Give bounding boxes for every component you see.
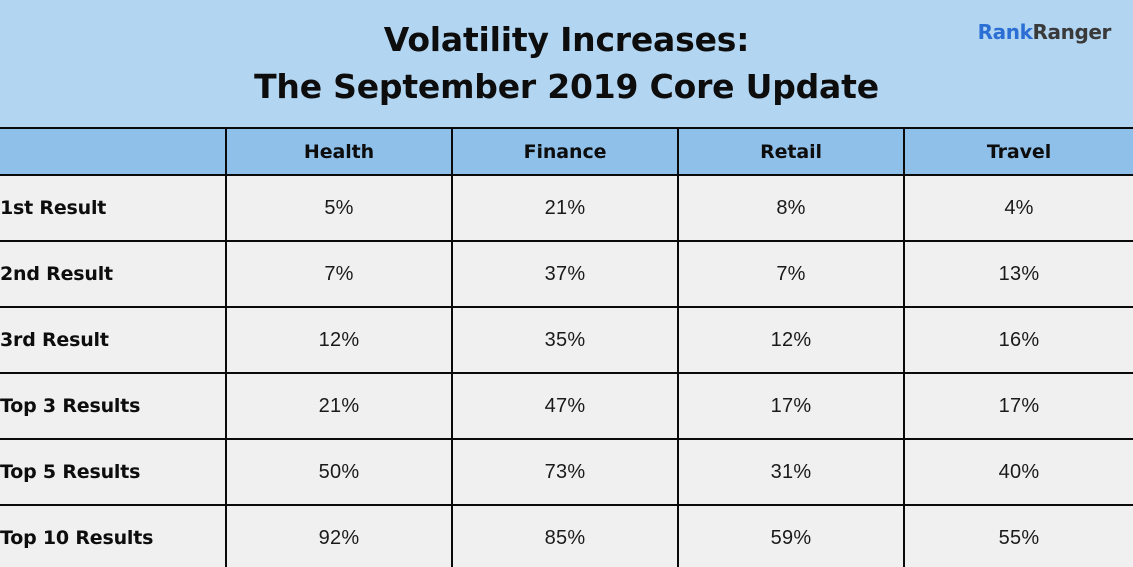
cell-top-5-results-health: 50%	[226, 439, 452, 505]
cell-1st-result-travel: 4%	[904, 175, 1133, 241]
cell-3rd-result-retail: 12%	[678, 307, 904, 373]
column-header-retail: Retail	[678, 128, 904, 175]
page-title-line-1: Volatility Increases:	[0, 16, 1133, 63]
cell-1st-result-retail: 8%	[678, 175, 904, 241]
volatility-table: Health Finance Retail Travel 1st Result …	[0, 127, 1133, 567]
row-label-top-3-results: Top 3 Results	[0, 373, 226, 439]
cell-2nd-result-health: 7%	[226, 241, 452, 307]
cell-top-10-results-health: 92%	[226, 505, 452, 567]
cell-3rd-result-travel: 16%	[904, 307, 1133, 373]
rankranger-logo: RankRanger	[978, 22, 1111, 42]
table-header-row: Health Finance Retail Travel	[0, 128, 1133, 175]
table-corner-cell	[0, 128, 226, 175]
table-row: Top 10 Results 92% 85% 59% 55%	[0, 505, 1133, 567]
row-label-3rd-result: 3rd Result	[0, 307, 226, 373]
cell-top-10-results-retail: 59%	[678, 505, 904, 567]
cell-3rd-result-finance: 35%	[452, 307, 678, 373]
cell-top-5-results-finance: 73%	[452, 439, 678, 505]
cell-top-10-results-travel: 55%	[904, 505, 1133, 567]
cell-top-3-results-retail: 17%	[678, 373, 904, 439]
page-title: Volatility Increases: The September 2019…	[0, 16, 1133, 110]
row-label-2nd-result: 2nd Result	[0, 241, 226, 307]
cell-2nd-result-retail: 7%	[678, 241, 904, 307]
table-row: 1st Result 5% 21% 8% 4%	[0, 175, 1133, 241]
column-header-travel: Travel	[904, 128, 1133, 175]
page-title-line-2: The September 2019 Core Update	[0, 63, 1133, 110]
cell-top-10-results-finance: 85%	[452, 505, 678, 567]
table-body: 1st Result 5% 21% 8% 4% 2nd Result 7% 37…	[0, 175, 1133, 567]
cell-3rd-result-health: 12%	[226, 307, 452, 373]
cell-1st-result-health: 5%	[226, 175, 452, 241]
column-header-health: Health	[226, 128, 452, 175]
cell-top-3-results-health: 21%	[226, 373, 452, 439]
row-label-top-10-results: Top 10 Results	[0, 505, 226, 567]
table-row: 2nd Result 7% 37% 7% 13%	[0, 241, 1133, 307]
column-header-finance: Finance	[452, 128, 678, 175]
volatility-table-container: Health Finance Retail Travel 1st Result …	[0, 127, 1133, 567]
cell-1st-result-finance: 21%	[452, 175, 678, 241]
cell-top-3-results-finance: 47%	[452, 373, 678, 439]
table-row: Top 3 Results 21% 47% 17% 17%	[0, 373, 1133, 439]
table-row: 3rd Result 12% 35% 12% 16%	[0, 307, 1133, 373]
cell-2nd-result-finance: 37%	[452, 241, 678, 307]
cell-top-5-results-retail: 31%	[678, 439, 904, 505]
cell-top-3-results-travel: 17%	[904, 373, 1133, 439]
row-label-1st-result: 1st Result	[0, 175, 226, 241]
logo-text-ranger: Ranger	[1033, 20, 1111, 44]
logo-text-rank: Rank	[978, 20, 1033, 44]
title-banner: Volatility Increases: The September 2019…	[0, 0, 1133, 127]
row-label-top-5-results: Top 5 Results	[0, 439, 226, 505]
cell-top-5-results-travel: 40%	[904, 439, 1133, 505]
cell-2nd-result-travel: 13%	[904, 241, 1133, 307]
table-row: Top 5 Results 50% 73% 31% 40%	[0, 439, 1133, 505]
table-header: Health Finance Retail Travel	[0, 128, 1133, 175]
